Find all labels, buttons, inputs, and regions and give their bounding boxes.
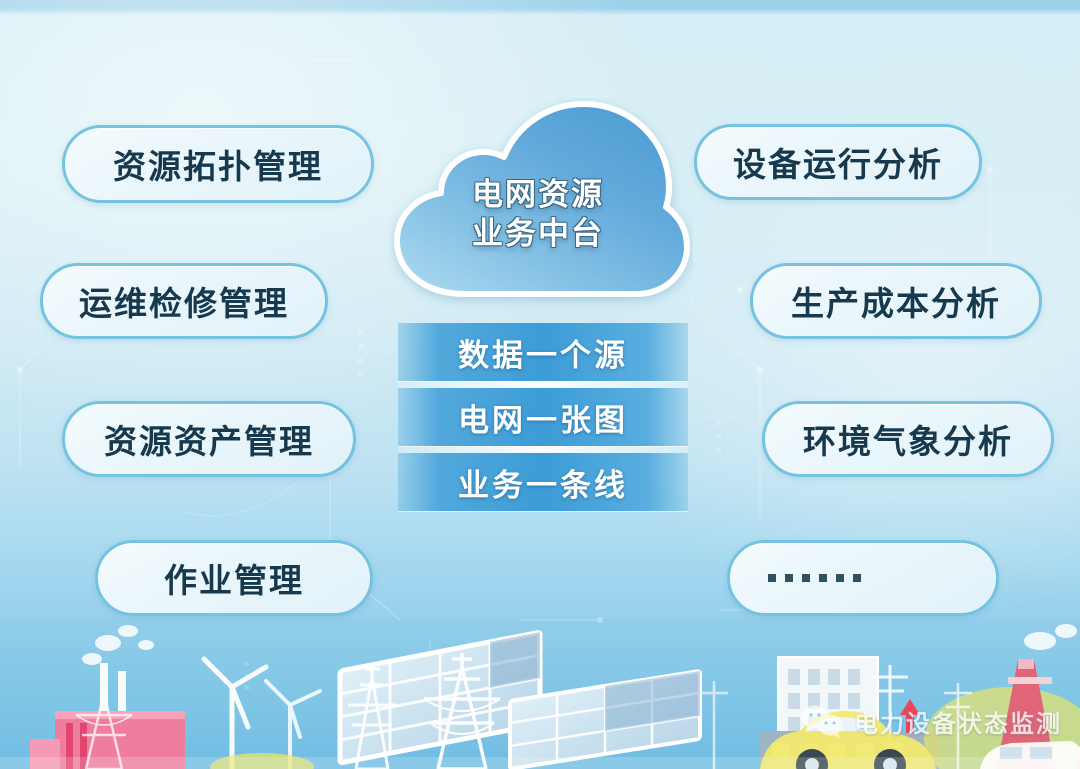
pill-work-management[interactable]: 作业管理 — [95, 540, 373, 616]
pillar-label: 数据一个源 — [458, 330, 628, 375]
pill-equipment-operation-analysis[interactable]: 设备运行分析 — [694, 124, 982, 200]
pill-label: 生产成本分析 — [791, 277, 1001, 325]
energy-city-illustration — [0, 619, 1080, 769]
pill-production-cost-analysis[interactable]: 生产成本分析 — [750, 263, 1042, 339]
pill-label: 运维检修管理 — [79, 277, 289, 325]
pillar-business-line[interactable]: 业务一条线 — [398, 453, 688, 511]
pill-resource-topology-management[interactable]: 资源拓扑管理 — [62, 125, 374, 203]
pill-label: 作业管理 — [164, 554, 304, 602]
cloud-badge: 电网资源 业务中台 — [383, 98, 693, 313]
pill-resource-asset-management[interactable]: 资源资产管理 — [62, 401, 356, 477]
pillar-data-source[interactable]: 数据一个源 — [398, 323, 688, 381]
infographic-canvas: 电网资源 业务中台 数据一个源 电网一张图 业务一条线 资源拓扑管理 运维检修管… — [0, 0, 1080, 769]
ellipsis-dots — [768, 574, 861, 582]
pill-label: 资源资产管理 — [104, 415, 314, 463]
pillar-label: 电网一张图 — [458, 395, 628, 440]
pill-more-ellipsis[interactable]: …… — [727, 540, 999, 616]
watermark: 电力设备状态监测 — [800, 704, 1062, 739]
pill-label: 资源拓扑管理 — [113, 140, 323, 188]
cloud-title: 电网资源 业务中台 — [383, 176, 693, 254]
center-pillars-group: 数据一个源 电网一张图 业务一条线 — [398, 323, 688, 511]
pill-label: 环境气象分析 — [803, 415, 1013, 463]
pill-om-maintenance-management[interactable]: 运维检修管理 — [40, 263, 328, 339]
wechat-icon — [800, 705, 844, 739]
pillar-grid-map[interactable]: 电网一张图 — [398, 388, 688, 446]
watermark-text: 电力设备状态监测 — [854, 704, 1062, 739]
pill-environment-weather-analysis[interactable]: 环境气象分析 — [762, 401, 1054, 477]
pillar-label: 业务一条线 — [458, 460, 628, 505]
pill-label: 设备运行分析 — [733, 138, 943, 186]
